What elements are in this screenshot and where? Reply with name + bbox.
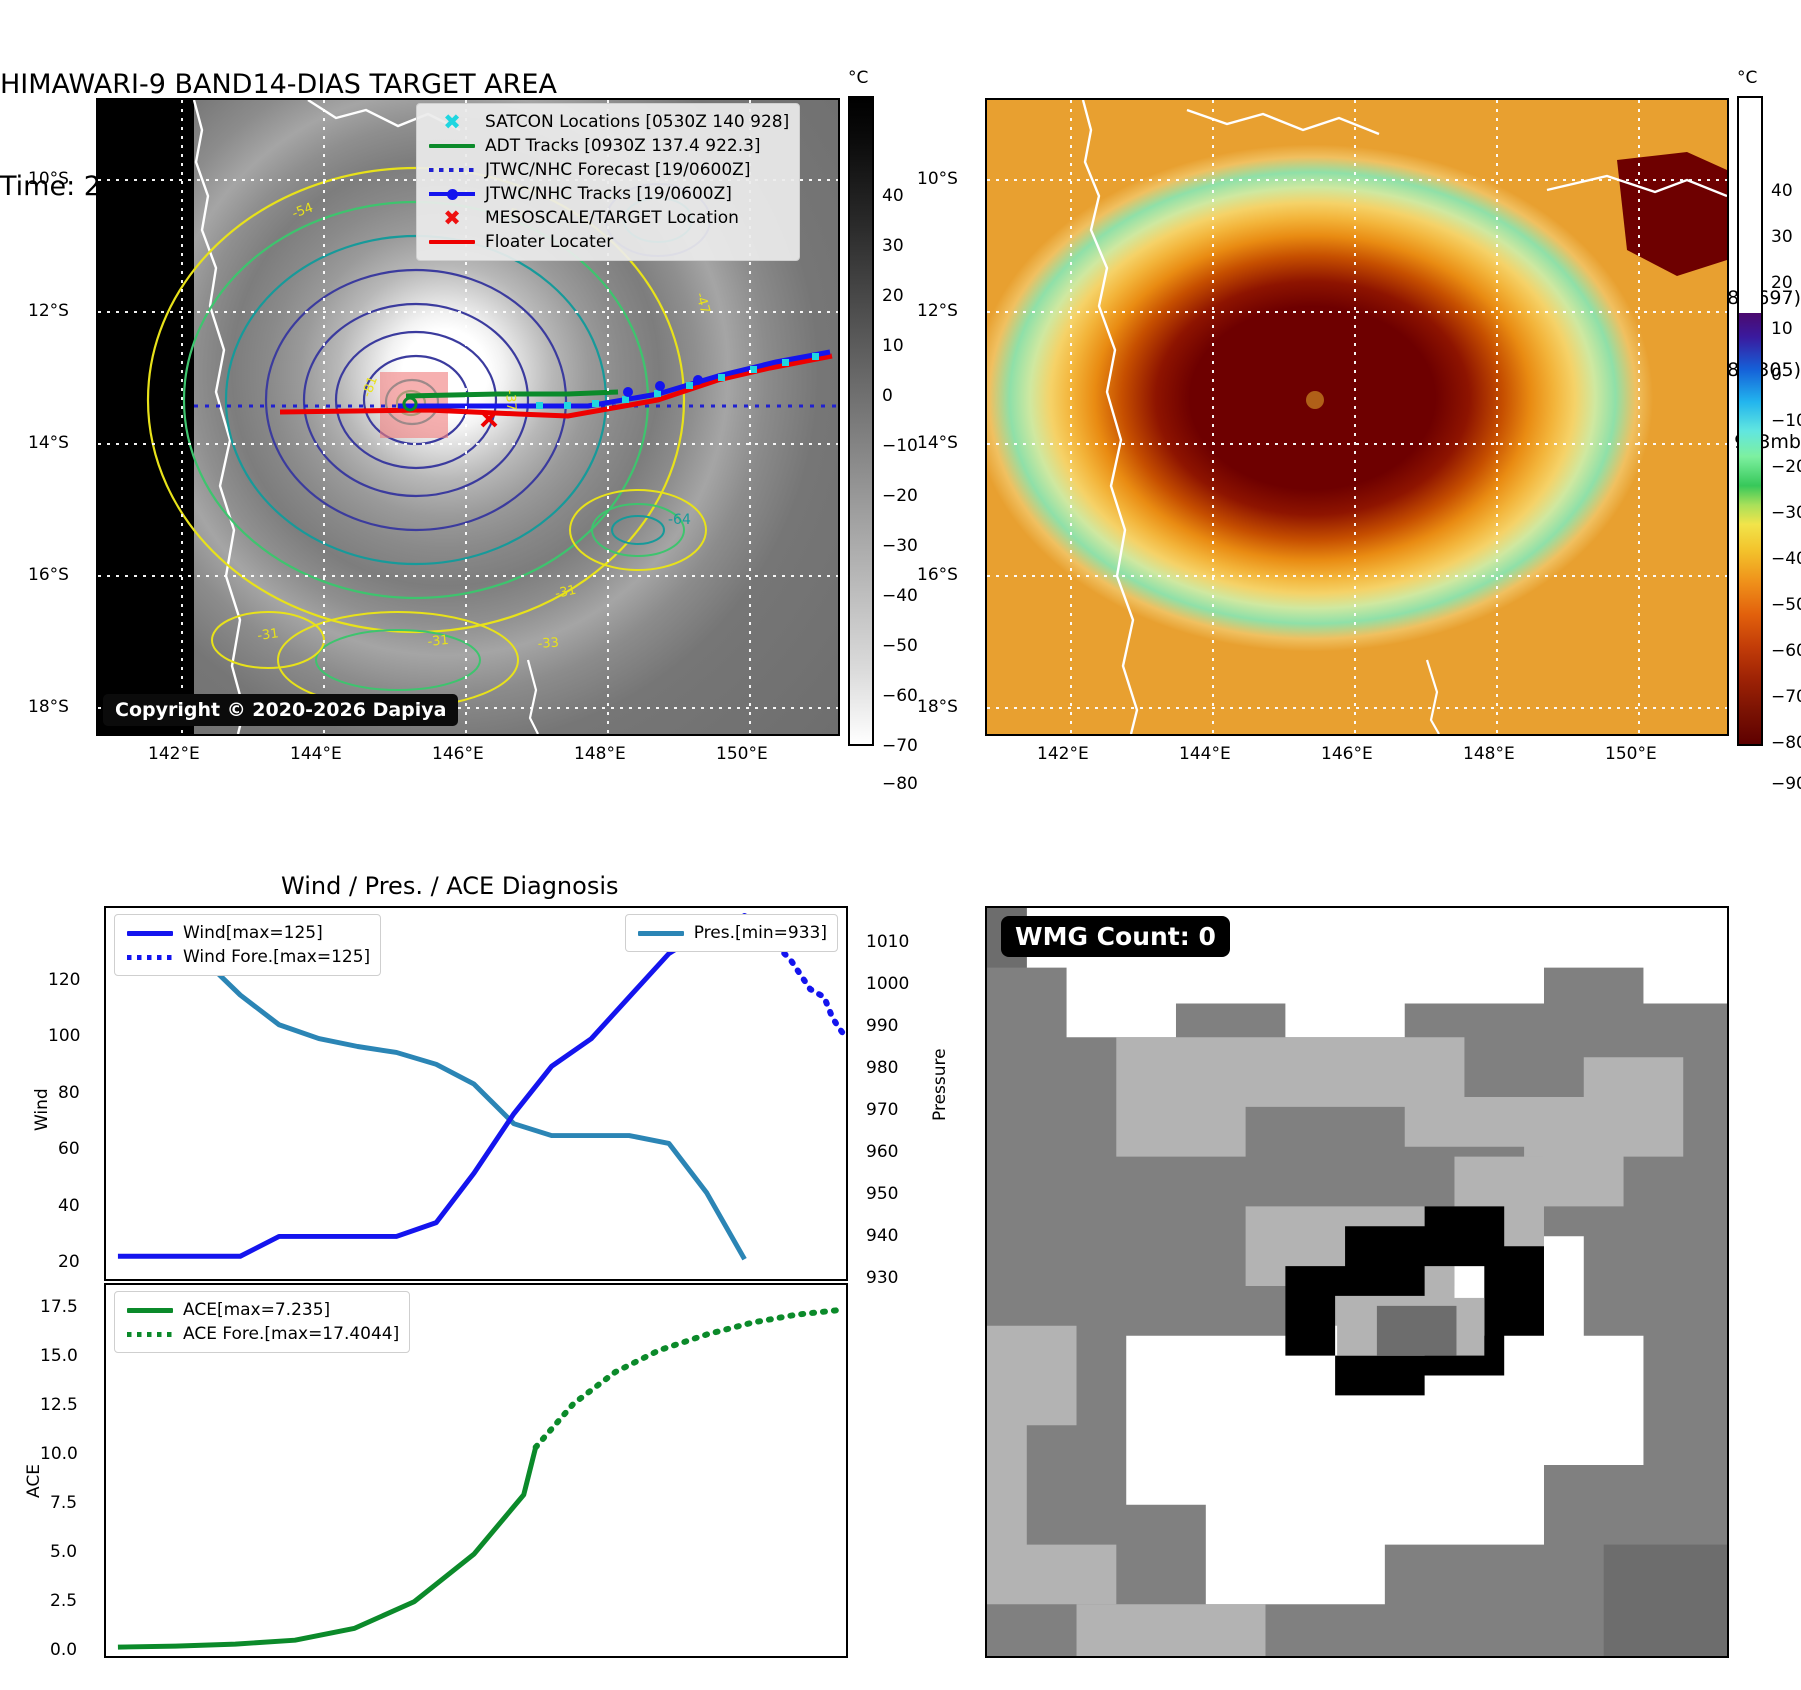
- lon-tick-label: 148°E: [1463, 744, 1515, 764]
- pressure-ytick: 960: [866, 1142, 898, 1162]
- ne-cold-patch: [1617, 152, 1727, 276]
- lat-tick-label: 12°S: [917, 301, 958, 321]
- ace-forecast-dotted-icon: [123, 1332, 177, 1337]
- wind-line-icon: [123, 931, 177, 936]
- left-map-legend[interactable]: ✖ SATCON Locations [0530Z 140 928] ADT T…: [416, 103, 800, 261]
- contour-blob-s2: [316, 630, 480, 690]
- coastline-north-right: [1187, 110, 1379, 134]
- lon-tick-label: 142°E: [148, 744, 200, 764]
- colorbar-units: °C: [848, 68, 868, 88]
- legend-item[interactable]: ACE Fore.[max=17.4044]: [123, 1322, 399, 1346]
- ace-ytick: 10.0: [40, 1444, 78, 1464]
- svg-text:-64: -64: [668, 512, 691, 528]
- wind-axis-label: Wind: [32, 1088, 52, 1131]
- lat-tick-label: 10°S: [917, 169, 958, 189]
- wind-ytick: 20: [58, 1252, 80, 1272]
- satcon-x-icon: ✖: [425, 112, 479, 133]
- lon-tick-label: 142°E: [1037, 744, 1089, 764]
- ace-ytick: 12.5: [40, 1395, 78, 1415]
- pressure-series: [118, 928, 745, 1259]
- cb-tick: −50: [1771, 595, 1801, 615]
- legend-label: JTWC/NHC Tracks [19/0600Z]: [485, 184, 732, 204]
- legend-item[interactable]: JTWC/NHC Forecast [19/0600Z]: [425, 158, 789, 182]
- cb-tick: −80: [882, 774, 918, 794]
- cb-tick: −10: [882, 436, 918, 456]
- ace-chart-legend[interactable]: ACE[max=7.235] ACE Fore.[max=17.4044]: [114, 1291, 410, 1353]
- lon-tick-label: 146°E: [1321, 744, 1373, 764]
- lon-tick-label: 146°E: [432, 744, 484, 764]
- wind-ytick: 100: [48, 1026, 80, 1046]
- lat-tick-label: 16°S: [28, 565, 69, 585]
- lon-tick-label: 150°E: [1605, 744, 1657, 764]
- lon-tick-label: 144°E: [290, 744, 342, 764]
- lon-tick-label: 148°E: [574, 744, 626, 764]
- ace-line-icon: [123, 1308, 177, 1313]
- right-colorbar[interactable]: [1737, 96, 1763, 746]
- cb-tick: −20: [1771, 457, 1801, 477]
- lat-tick-label: 16°S: [917, 565, 958, 585]
- legend-label: MESOSCALE/TARGET Location: [485, 208, 739, 228]
- ace-ytick: 5.0: [50, 1542, 77, 1562]
- lat-tick-label: 12°S: [28, 301, 69, 321]
- cb-tick: 20: [1771, 273, 1793, 293]
- left-map-image[interactable]: -54 -54 -81 -31 -31 -31 -33 -47 -37 -64: [98, 100, 838, 734]
- cb-tick: −60: [1771, 641, 1801, 661]
- pressure-ytick: 950: [866, 1184, 898, 1204]
- cb-tick: 30: [1771, 227, 1793, 247]
- ace-axis-label: ACE: [24, 1464, 44, 1498]
- colorbar-units: °C: [1737, 68, 1757, 88]
- coastline-south: [528, 660, 538, 734]
- cb-tick: 40: [1771, 181, 1793, 201]
- wmg-count-badge: WMG Count: 0: [1001, 916, 1230, 957]
- legend-item[interactable]: ADT Tracks [0930Z 137.4 922.3]: [425, 134, 789, 158]
- diagnosis-chart-title: Wind / Pres. / ACE Diagnosis: [281, 872, 619, 900]
- cb-tick: 10: [882, 336, 904, 356]
- svg-text:-31: -31: [427, 633, 450, 650]
- contour-label-teal-group: -64: [668, 512, 691, 528]
- pressure-ytick: 980: [866, 1058, 898, 1078]
- track-marker-line-icon: [425, 192, 479, 196]
- cb-tick: −20: [882, 486, 918, 506]
- pressure-axis-label: Pressure: [930, 1048, 950, 1121]
- legend-label: ADT Tracks [0930Z 137.4 922.3]: [485, 136, 761, 156]
- cb-tick: −60: [882, 686, 918, 706]
- wmg-bottom-light: [1077, 1604, 1266, 1656]
- legend-item[interactable]: Pres.[min=933]: [634, 921, 827, 945]
- cb-tick: 40: [882, 186, 904, 206]
- ace-ytick: 17.5: [40, 1297, 78, 1317]
- ace-chart-axes[interactable]: ACE[max=7.235] ACE Fore.[max=17.4044]: [104, 1283, 848, 1658]
- legend-item[interactable]: Floater Locater: [425, 230, 789, 254]
- legend-label: ACE Fore.[max=17.4044]: [183, 1324, 399, 1344]
- pressure-line-icon: [634, 931, 688, 936]
- forecast-dotted-icon: [425, 168, 479, 172]
- left-colorbar[interactable]: [848, 96, 874, 746]
- legend-item[interactable]: JTWC/NHC Tracks [19/0600Z]: [425, 182, 789, 206]
- svg-text:-54: -54: [290, 200, 315, 221]
- lat-tick-label: 18°S: [917, 697, 958, 717]
- wmg-image[interactable]: [987, 908, 1727, 1656]
- wind-ytick: 120: [48, 970, 80, 990]
- legend-item[interactable]: Wind Fore.[max=125]: [123, 945, 370, 969]
- legend-label: Wind[max=125]: [183, 923, 323, 943]
- cb-tick: −70: [1771, 687, 1801, 707]
- legend-label: Wind Fore.[max=125]: [183, 947, 370, 967]
- svg-text:-81: -81: [360, 374, 381, 399]
- floater-line-icon: [425, 240, 479, 244]
- mesoscale-x-icon: ✖: [425, 208, 479, 229]
- cb-tick: 30: [882, 236, 904, 256]
- cb-tick: −30: [882, 536, 918, 556]
- lat-tick-label: 14°S: [917, 433, 958, 453]
- pressure-ytick: 990: [866, 1016, 898, 1036]
- legend-label: Floater Locater: [485, 232, 613, 252]
- cb-tick: −80: [1771, 733, 1801, 753]
- lat-tick-label: 10°S: [28, 169, 69, 189]
- legend-item[interactable]: ACE[max=7.235]: [123, 1298, 399, 1322]
- wmg-cloud-cluster-panel: WMG Count: 0: [985, 906, 1729, 1658]
- legend-label: JTWC/NHC Forecast [19/0600Z]: [485, 160, 750, 180]
- eye-warm-spot: [1306, 391, 1324, 409]
- ace-forecast-series: [536, 1310, 842, 1448]
- wind-pressure-chart: Wind[max=125] Wind Fore.[max=125] Pres.[…: [104, 906, 848, 1281]
- lon-tick-label: 144°E: [1179, 744, 1231, 764]
- cb-tick: 0: [882, 386, 893, 406]
- cb-tick: −10: [1771, 411, 1801, 431]
- cb-tick: −30: [1771, 503, 1801, 523]
- coastline-south-right: [1427, 660, 1439, 734]
- wmg-graphics: [987, 908, 1727, 1656]
- pressure-ytick: 970: [866, 1100, 898, 1120]
- svg-text:-31: -31: [554, 583, 578, 602]
- ace-ytick: 15.0: [40, 1346, 78, 1366]
- wind-ytick: 40: [58, 1196, 80, 1216]
- right-map-axes[interactable]: [985, 98, 1729, 736]
- cb-tick: 20: [882, 286, 904, 306]
- pressure-ytick: 930: [866, 1268, 898, 1288]
- left-ir-map-panel: -54 -54 -81 -31 -31 -31 -33 -47 -37 -64: [96, 98, 840, 832]
- lat-tick-label: 18°S: [28, 697, 69, 717]
- wind-chart-legend-right[interactable]: Pres.[min=933]: [625, 914, 838, 952]
- wmg-eye-core-dark: [1377, 1306, 1457, 1356]
- right-colorbar-panel: °C 40 30 20 10 0 −10 −20 −30 −40 −50 −60…: [1737, 68, 1801, 748]
- pressure-ytick: 1000: [866, 974, 909, 994]
- ace-ytick: 7.5: [50, 1493, 77, 1513]
- ace-chart: ACE[max=7.235] ACE Fore.[max=17.4044] 0.…: [104, 1283, 848, 1658]
- wmg-axes[interactable]: WMG Count: 0: [985, 906, 1729, 1658]
- wmg-corner-dark-2: [1604, 1545, 1727, 1656]
- legend-item[interactable]: Wind[max=125]: [123, 921, 370, 945]
- wind-chart-axes[interactable]: Wind[max=125] Wind Fore.[max=125] Pres.[…: [104, 906, 848, 1281]
- legend-item[interactable]: ✖ MESOSCALE/TARGET Location: [425, 206, 789, 230]
- right-ir-enhanced-panel: 10°S 12°S 14°S 16°S 18°S 142°E 144°E 146…: [985, 98, 1729, 832]
- legend-label: SATCON Locations [0530Z 140 928]: [485, 112, 789, 132]
- wind-ytick: 60: [58, 1139, 80, 1159]
- legend-label: ACE[max=7.235]: [183, 1300, 330, 1320]
- adt-line-icon: [425, 144, 479, 148]
- svg-text:-33: -33: [537, 636, 559, 652]
- wind-forecast-dotted-icon: [123, 955, 177, 960]
- cb-tick: −40: [882, 586, 918, 606]
- coastline-west: [194, 100, 244, 734]
- cb-tick: 0: [1771, 365, 1782, 385]
- lon-tick-label: 150°E: [716, 744, 768, 764]
- cb-tick: −40: [1771, 549, 1801, 569]
- lat-tick-label: 14°S: [28, 433, 69, 453]
- wind-chart-legend-left[interactable]: Wind[max=125] Wind Fore.[max=125]: [114, 914, 381, 976]
- svg-text:-31: -31: [256, 626, 279, 644]
- ace-ytick: 2.5: [50, 1591, 77, 1611]
- right-map-image[interactable]: [987, 100, 1727, 734]
- pressure-ytick: 940: [866, 1226, 898, 1246]
- pressure-ytick: 1010: [866, 932, 909, 952]
- left-map-axes[interactable]: -54 -54 -81 -31 -31 -31 -33 -47 -37 -64: [96, 98, 840, 736]
- svg-text:-37: -37: [502, 389, 518, 411]
- cb-tick: −90: [1771, 774, 1801, 794]
- cb-tick: −50: [882, 636, 918, 656]
- coastline-west-right: [1083, 100, 1137, 734]
- cb-tick: −70: [882, 736, 918, 756]
- wind-ytick: 80: [58, 1083, 80, 1103]
- ace-observed-series: [118, 1447, 536, 1647]
- right-map-overlay-graphics: [987, 100, 1727, 734]
- legend-item[interactable]: ✖ SATCON Locations [0530Z 140 928]: [425, 110, 789, 134]
- cb-tick: 10: [1771, 319, 1793, 339]
- ace-ytick: 0.0: [50, 1640, 77, 1660]
- copyright-banner: Copyright © 2020-2026 Dapiya: [103, 694, 458, 726]
- legend-label: Pres.[min=933]: [694, 923, 827, 943]
